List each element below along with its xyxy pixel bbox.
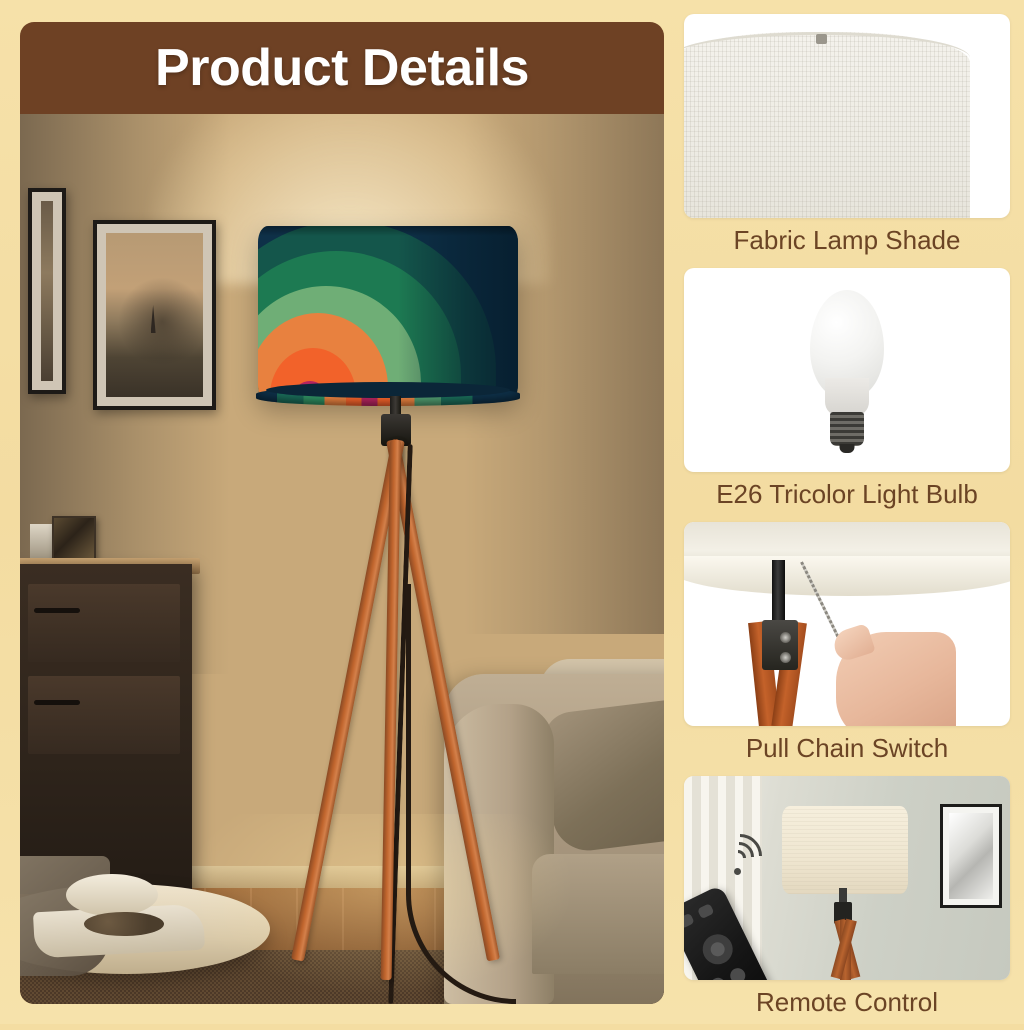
bulb-neck [825,378,869,416]
tripod-floor-lamp [20,114,664,1004]
shade-clip [816,34,827,44]
shade-underside-inner [684,556,1010,596]
lamp-shade [782,806,908,894]
light-bulb-thumbnail[interactable] [684,268,1010,472]
detail-thumbnail-column: Fabric Lamp Shade E26 Tricolor Light Bul… [684,14,1010,1030]
bracket-screw [780,652,791,663]
shade-top-rim [258,226,518,236]
shade-shadow [398,226,518,401]
hero-column: Product Details [20,22,664,1004]
remote-control-thumbnail[interactable] [684,776,1010,980]
detail-item-light-bulb: E26 Tricolor Light Bulb [684,268,1010,516]
lamp-bracket [762,620,798,670]
remote-button [684,913,695,929]
shade-rim [684,32,970,58]
signal-origin-dot [734,868,741,875]
wall-art [940,804,1002,908]
detail-caption: E26 Tricolor Light Bulb [684,472,1010,516]
rainbow-lamp-shade [258,226,518,401]
detail-caption: Fabric Lamp Shade [684,218,1010,262]
lamp-stem [772,560,785,626]
detail-caption: Pull Chain Switch [684,726,1010,770]
remote-dial-button [698,929,738,969]
detail-caption: Remote Control [684,980,1010,1024]
remote-button [697,903,714,919]
header-bar: Product Details [20,22,664,114]
remote-button [728,966,748,980]
remote-button [708,975,728,980]
bulb-contact-tip [840,444,855,453]
fabric-texture-icon [684,32,970,218]
detail-item-fabric-shade: Fabric Lamp Shade [684,14,1010,262]
pull-chain-switch-thumbnail[interactable] [684,522,1010,726]
detail-item-remote-control: Remote Control [684,776,1010,1024]
bracket-screw [780,632,791,643]
fabric-lamp-shade-thumbnail[interactable] [684,14,1010,218]
shade-interior [266,382,510,398]
product-details-page: Product Details [0,0,1024,1024]
hero-image [20,114,664,1004]
bulb-screw-base [830,412,864,446]
detail-item-pull-chain: Pull Chain Switch [684,522,1010,770]
page-title: Product Details [155,42,529,94]
